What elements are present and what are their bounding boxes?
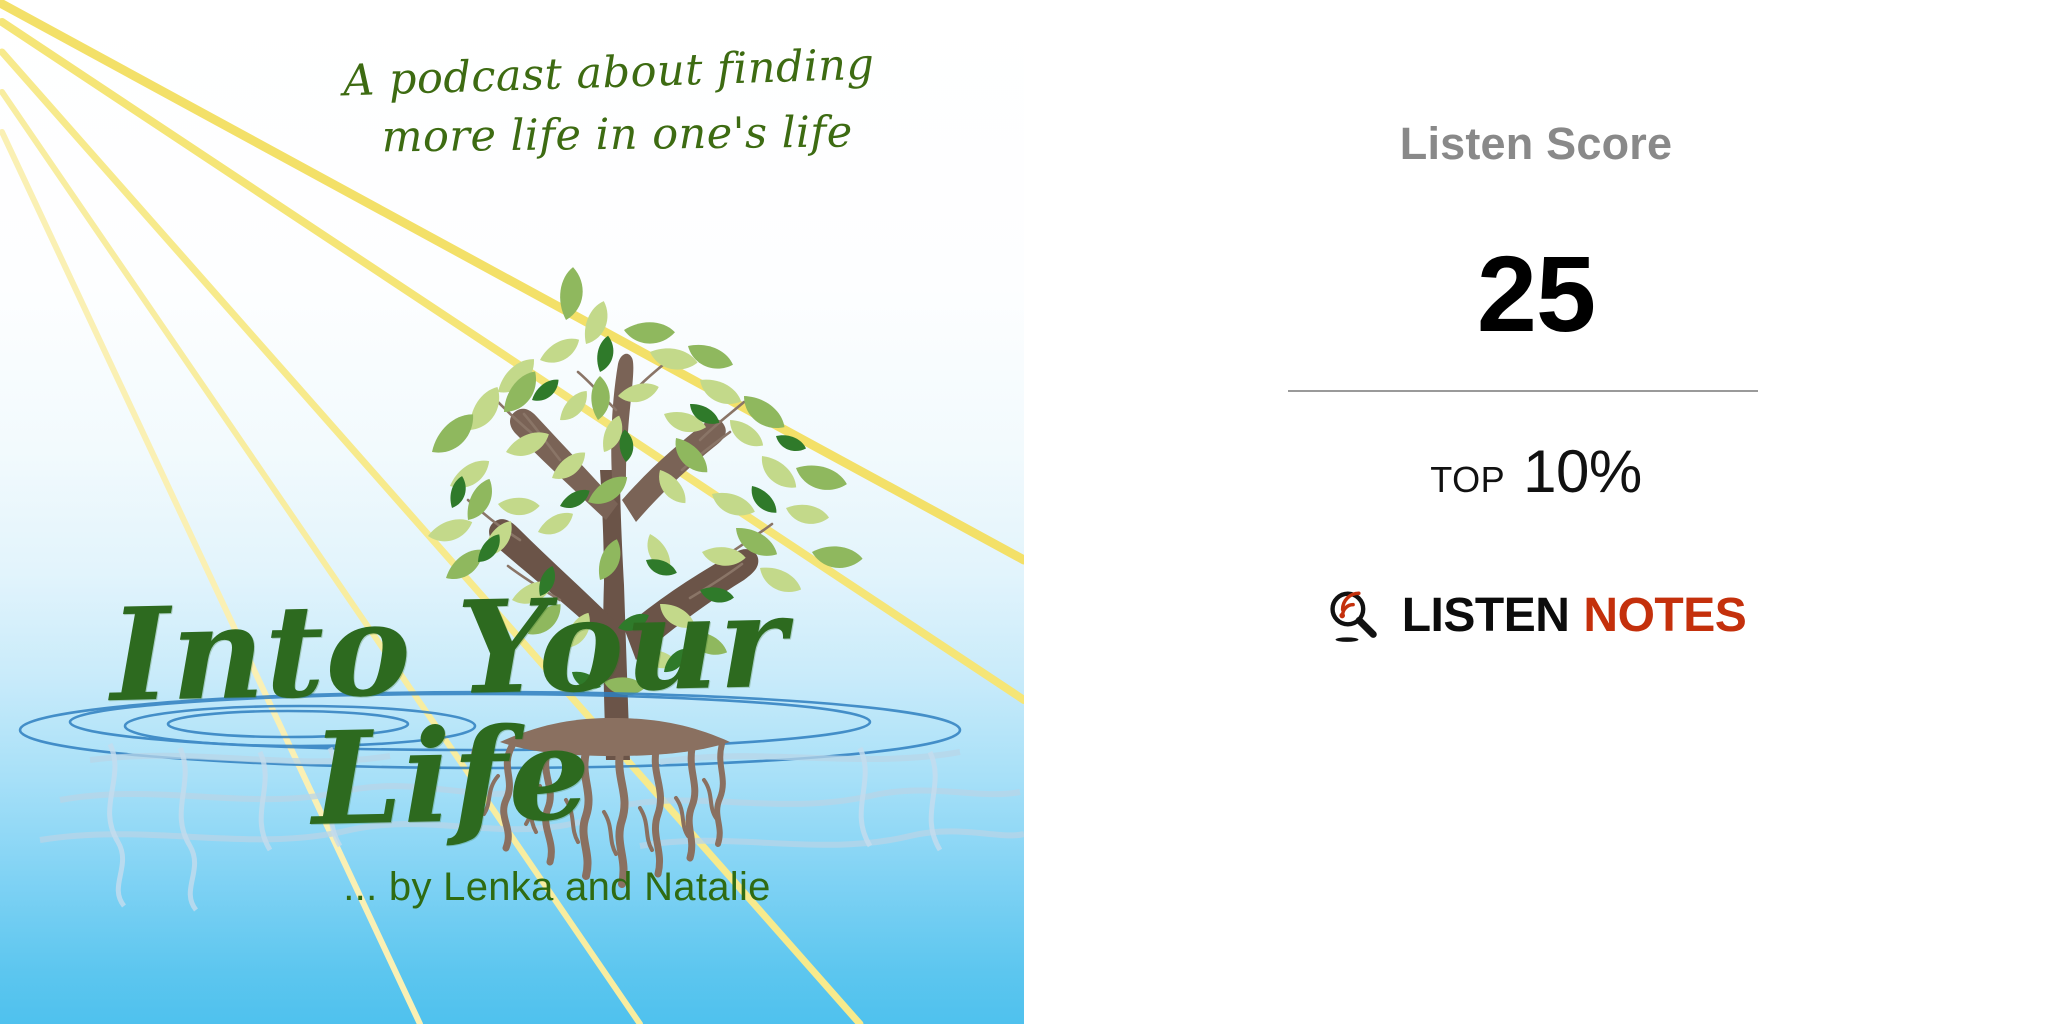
brand-word-notes: NOTES <box>1583 592 1746 640</box>
rank-value: 10% <box>1523 437 1642 506</box>
rank-label: TOP <box>1430 459 1505 501</box>
listen-score-rank: TOP 10% <box>1276 437 1796 506</box>
listen-score-value: 25 <box>1276 240 1796 348</box>
score-divider <box>1288 390 1758 392</box>
listen-score-panel: Listen Score 25 TOP 10% <box>1024 0 2048 1024</box>
cover-byline: ... by Lenka and Natalie <box>0 865 1024 910</box>
cover-title: Into Your Life <box>0 576 903 851</box>
podcast-cover-art[interactable]: A podcast about finding more life in one… <box>0 0 1024 1024</box>
brand-word-listen: LISTEN <box>1402 592 1570 640</box>
listen-notes-magnifier-icon <box>1326 588 1382 644</box>
listen-notes-brand[interactable]: LISTEN NOTES <box>1276 588 1796 644</box>
listen-score-card: A podcast about finding more life in one… <box>0 0 2048 1024</box>
listen-score-heading: Listen Score <box>1276 118 1796 170</box>
